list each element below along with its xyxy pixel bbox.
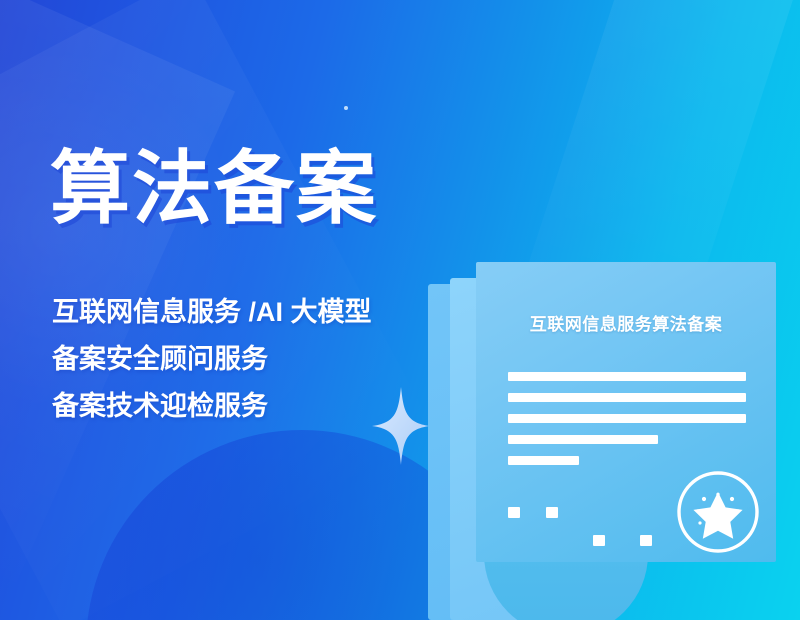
service-list-item: 互联网信息服务 /AI 大模型 [52,297,372,327]
service-list-item: 备案安全顾问服务 [52,344,372,374]
service-list: 互联网信息服务 /AI 大模型 备案安全顾问服务 备案技术迎检服务 [52,297,372,422]
certificate-text-line [508,372,746,381]
certificate-title: 互联网信息服务算法备案 [476,310,776,335]
certificate-marker-square [508,507,520,518]
certificate-text-line [508,393,746,402]
four-point-sparkle-icon [372,387,430,465]
certificate-stack: 互联网信息服务算法备案 [428,262,776,620]
certificate-text-line [508,456,579,465]
certificate-text-lines [508,372,746,477]
certificate-text-line [508,435,658,444]
service-list-item: 备案技术迎检服务 [52,391,372,421]
certificate-marker-square [640,535,652,546]
promo-banner: 算法备案 互联网信息服务 /AI 大模型 备案安全顾问服务 备案技术迎检服务 互… [0,0,800,620]
certificate-marker-square [593,535,605,546]
certificate-marker-square [546,507,558,518]
certificate-text-line [508,414,746,423]
tiny-dot-icon [344,106,348,110]
star-seal-icon [674,468,762,556]
certificate-card: 互联网信息服务算法备案 [476,262,776,562]
page-title: 算法备案 [50,146,378,232]
